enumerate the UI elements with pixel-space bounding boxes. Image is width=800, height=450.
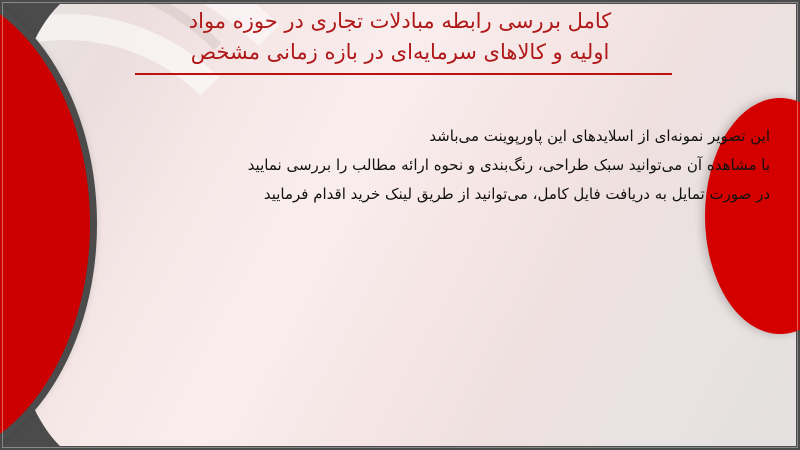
background-arc [0,4,658,446]
slide-title-line-1: کامل بررسی رابطه مبادلات تجاری در حوزه م… [120,6,680,37]
background-arc-pattern [0,4,796,446]
presentation-slide: کامل بررسی رابطه مبادلات تجاری در حوزه م… [0,0,800,450]
title-underline-rule [135,73,672,75]
background-arc [0,4,764,446]
slide-content-panel [0,4,796,446]
slide-body-text: این تصویر نمونه‌ای از اسلایدهای این پاور… [90,122,770,209]
slide-body-line-2: با مشاهده آن می‌توانید سبک طراحی، رنگ‌بن… [90,151,770,180]
slide-title-line-2: اولیه و کالاهای سرمایه‌ای در بازه زمانی … [120,37,680,68]
background-arc [0,4,648,446]
slide-body-line-1: این تصویر نمونه‌ای از اسلایدهای این پاور… [90,122,770,151]
background-arc [0,4,796,446]
background-arc [0,4,732,446]
slide-title: کامل بررسی رابطه مبادلات تجاری در حوزه م… [120,6,680,68]
slide-body-line-3: در صورت تمایل به دریافت فایل کامل، می‌تو… [90,180,770,209]
